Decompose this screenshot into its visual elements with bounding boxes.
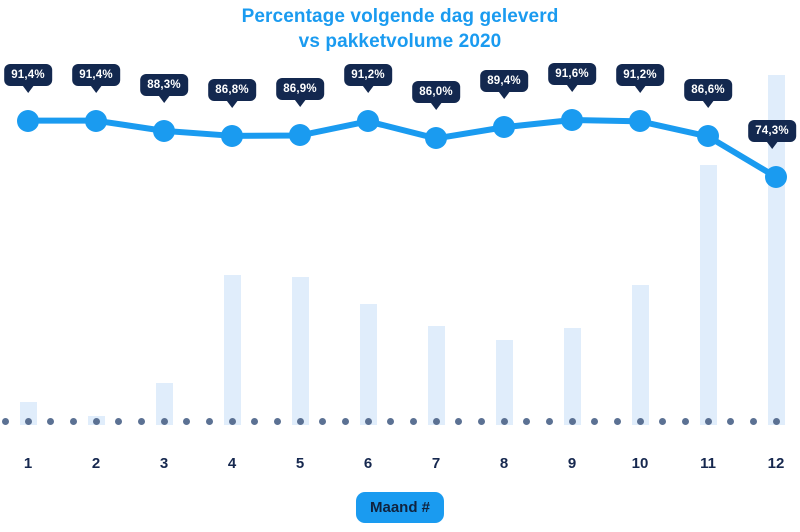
x-tick-label-10: 10 [632,455,649,472]
value-label-month-3: 88,3% [140,74,188,96]
data-point-month-2[interactable] [85,110,107,132]
value-label-month-10: 91,2% [616,64,664,86]
line-series-percentage [0,0,800,445]
value-label-month-12: 74,3% [748,120,796,142]
value-label-month-2: 91,4% [72,64,120,86]
plot-area: 91,4%91,4%88,3%86,8%86,9%91,2%86,0%89,4%… [0,0,800,445]
value-label-month-7: 86,0% [412,81,460,103]
chart-container: Percentage volgende dag geleverd vs pakk… [0,0,800,532]
value-label-month-9: 91,6% [548,63,596,85]
x-tick-label-9: 9 [568,455,576,472]
x-tick-label-1: 1 [24,455,32,472]
data-point-month-12[interactable] [765,166,787,188]
data-point-month-3[interactable] [153,120,175,142]
x-tick-label-12: 12 [768,455,785,472]
data-point-month-9[interactable] [561,109,583,131]
x-tick-label-4: 4 [228,455,236,472]
x-tick-label-3: 3 [160,455,168,472]
value-label-month-5: 86,9% [276,78,324,100]
x-tick-label-5: 5 [296,455,304,472]
value-label-month-8: 89,4% [480,70,528,92]
value-label-month-4: 86,8% [208,79,256,101]
data-point-month-4[interactable] [221,125,243,147]
value-label-month-6: 91,2% [344,64,392,86]
x-tick-label-11: 11 [700,455,716,472]
x-axis-title-pill: Maand # [356,492,444,523]
x-tick-label-8: 8 [500,455,508,472]
data-point-month-1[interactable] [17,110,39,132]
x-tick-label-6: 6 [364,455,372,472]
x-tick-label-2: 2 [92,455,100,472]
x-tick-label-7: 7 [432,455,440,472]
value-label-month-1: 91,4% [4,64,52,86]
value-label-month-11: 86,6% [684,79,732,101]
